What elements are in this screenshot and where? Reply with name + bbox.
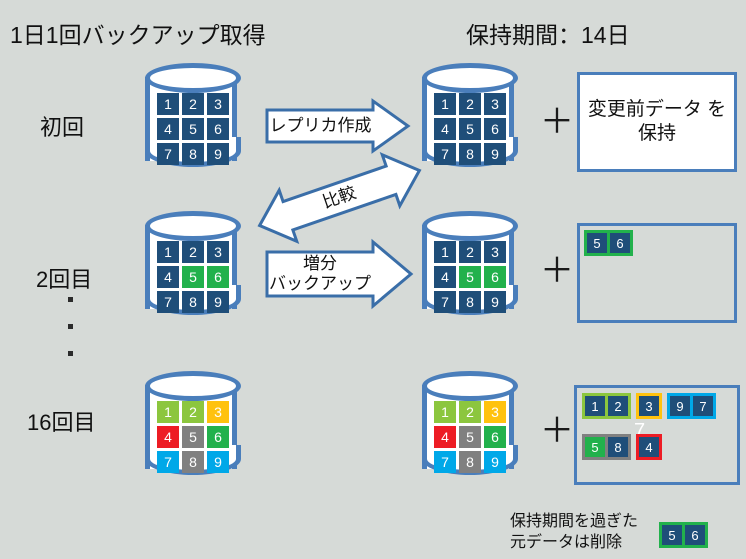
data-tile: 5 xyxy=(459,426,481,448)
data-tile: 7 xyxy=(434,143,456,165)
data-tile: 8 xyxy=(459,451,481,473)
data-tile: 8 xyxy=(608,437,628,457)
data-tile: 8 xyxy=(182,451,204,473)
data-tile: 6 xyxy=(484,118,506,140)
data-tile: 1 xyxy=(434,241,456,263)
data-tile: 5 xyxy=(459,266,481,288)
target-cylinder-sixteenth: 123456789 xyxy=(420,371,520,483)
cylinder-top xyxy=(422,371,518,401)
tile-group: 3 xyxy=(636,393,662,419)
cylinder-top xyxy=(422,211,518,241)
data-tile: 6 xyxy=(484,426,506,448)
data-tile: 4 xyxy=(157,266,179,288)
data-tile: 2 xyxy=(182,93,204,115)
data-tile: 5 xyxy=(585,437,605,457)
data-tile: 1 xyxy=(157,401,179,423)
data-tile: 3 xyxy=(207,93,229,115)
cylinder-tile-grid: 123456789 xyxy=(157,93,229,165)
diagram-canvas: 1日1回バックアップ取得 保持期間：14日 初回 2回目 16回目 123456… xyxy=(0,0,746,559)
data-tile: 5 xyxy=(662,525,682,545)
data-tile: 7 xyxy=(434,291,456,313)
data-tile: 7 xyxy=(157,291,179,313)
data-tile: 6 xyxy=(207,426,229,448)
retained-data-box-initial: 変更前データ を保持 xyxy=(577,72,737,172)
data-tile: 4 xyxy=(434,426,456,448)
cylinder-tile-grid: 123456789 xyxy=(157,401,229,473)
data-tile: 2 xyxy=(608,396,628,416)
data-tile: 4 xyxy=(434,266,456,288)
plus-sign-sixteenth: ＋ xyxy=(540,414,574,448)
data-tile: 6 xyxy=(207,118,229,140)
data-tile: 2 xyxy=(459,241,481,263)
tile-group: 56 xyxy=(584,230,633,256)
cylinder-top xyxy=(145,211,241,241)
data-tile: 1 xyxy=(157,93,179,115)
data-tile: 6 xyxy=(207,266,229,288)
data-tile: 8 xyxy=(182,291,204,313)
data-tile: 2 xyxy=(182,241,204,263)
data-tile: 6 xyxy=(610,233,630,253)
tile-group: 58 xyxy=(582,434,631,460)
footer-caption: 保持期間を過ぎた 元データは削除 xyxy=(510,512,638,554)
data-tile: 3 xyxy=(484,401,506,423)
data-tile: 4 xyxy=(434,118,456,140)
tile-group: 97 xyxy=(667,393,716,419)
row-label-initial: 初回 xyxy=(40,110,84,142)
ellipsis-dot-3 xyxy=(68,351,73,356)
data-tile: 2 xyxy=(182,401,204,423)
plus-sign-second: ＋ xyxy=(540,254,574,288)
incremental-box-second: 56 xyxy=(577,223,737,323)
cylinder-tile-grid: 123456789 xyxy=(434,241,506,313)
cylinder-top xyxy=(145,63,241,93)
data-tile: 7 xyxy=(157,451,179,473)
data-tile: 3 xyxy=(207,401,229,423)
data-tile: 9 xyxy=(207,291,229,313)
data-tile: 2 xyxy=(459,93,481,115)
data-tile: 9 xyxy=(207,143,229,165)
arrow-incremental-backup-label: 増分 バックアップ xyxy=(266,252,374,296)
data-tile: 9 xyxy=(484,451,506,473)
data-tile: 4 xyxy=(639,437,659,457)
row-label-second: 2回目 xyxy=(36,262,92,294)
data-tile: 5 xyxy=(459,118,481,140)
data-tile: 6 xyxy=(484,266,506,288)
data-tile: 4 xyxy=(157,426,179,448)
data-tile: 9 xyxy=(484,143,506,165)
plus-sign-initial: ＋ xyxy=(540,105,574,139)
cylinder-tile-grid: 123456789 xyxy=(157,241,229,313)
data-tile: 2 xyxy=(459,401,481,423)
source-cylinder-sixteenth: 123456789 xyxy=(143,371,243,483)
data-tile: 7 xyxy=(434,451,456,473)
cylinder-top xyxy=(145,371,241,401)
data-tile: 5 xyxy=(182,426,204,448)
cylinder-top xyxy=(422,63,518,93)
archive-box-groups-row1: 12397 xyxy=(582,393,716,419)
header-left-title: 1日1回バックアップ取得 xyxy=(10,16,266,50)
target-cylinder-second: 123456789 xyxy=(420,211,520,323)
ellipsis-dot-1 xyxy=(68,297,73,302)
data-tile: 1 xyxy=(157,241,179,263)
tile-group: 12 xyxy=(582,393,631,419)
data-tile: 3 xyxy=(484,241,506,263)
archive-box-sixteenth: 12397 7 584 xyxy=(574,385,740,485)
data-tile: 3 xyxy=(207,241,229,263)
data-tile: 1 xyxy=(434,93,456,115)
data-tile: 5 xyxy=(182,266,204,288)
data-tile: 9 xyxy=(207,451,229,473)
tile-group: 4 xyxy=(636,434,662,460)
data-tile: 5 xyxy=(182,118,204,140)
data-tile: 6 xyxy=(685,525,705,545)
tile-group: 56 xyxy=(659,522,708,548)
data-tile: 1 xyxy=(585,396,605,416)
data-tile: 8 xyxy=(459,143,481,165)
data-tile: 7 xyxy=(157,143,179,165)
data-tile: 8 xyxy=(182,143,204,165)
retained-data-box-text: 変更前データ を保持 xyxy=(580,75,734,169)
data-tile: 9 xyxy=(484,291,506,313)
data-tile: 5 xyxy=(587,233,607,253)
data-tile: 4 xyxy=(157,118,179,140)
data-tile: 3 xyxy=(639,396,659,416)
ellipsis-dot-2 xyxy=(68,324,73,329)
source-cylinder-initial: 123456789 xyxy=(143,63,243,175)
footer-deleted-group: 56 xyxy=(659,522,708,548)
data-tile: 9 xyxy=(670,396,690,416)
data-tile: 3 xyxy=(484,93,506,115)
data-tile: 1 xyxy=(434,401,456,423)
archive-box-groups-row2: 584 xyxy=(582,434,662,460)
arrow-replica-create-label: レプリカ作成 xyxy=(268,108,373,144)
source-cylinder-second: 123456789 xyxy=(143,211,243,323)
cylinder-tile-grid: 123456789 xyxy=(434,401,506,473)
data-tile: 7 xyxy=(693,396,713,416)
row-label-sixteenth: 16回目 xyxy=(27,405,95,437)
cylinder-tile-grid: 123456789 xyxy=(434,93,506,165)
data-tile: 8 xyxy=(459,291,481,313)
incremental-box-groups: 56 xyxy=(584,230,633,256)
header-right-title: 保持期間：14日 xyxy=(466,16,630,50)
target-cylinder-initial: 123456789 xyxy=(420,63,520,175)
